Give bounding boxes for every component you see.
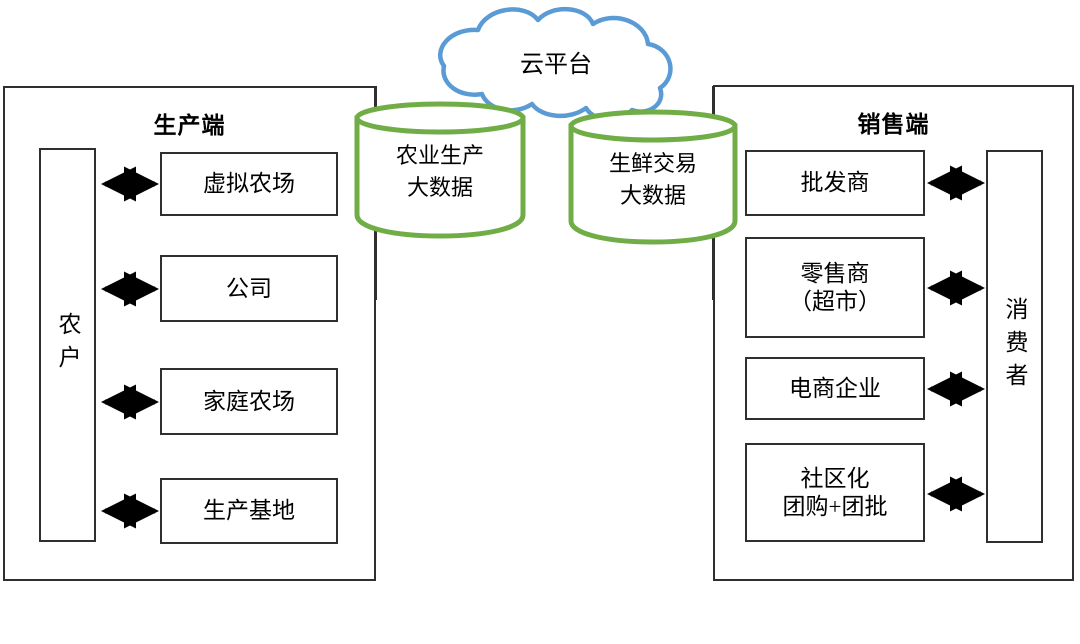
node-wholesaler-label: 批发商: [801, 169, 870, 196]
production-panel-title: 生产端: [3, 106, 376, 140]
node-family-farm[interactable]: 家庭农场: [160, 368, 338, 435]
node-production-base-label: 生产基地: [203, 497, 295, 524]
node-ecommerce-label: 电商企业: [789, 375, 881, 402]
production-actor-label: 农户: [56, 312, 79, 378]
node-community-group-label: 社区化 团购+团批: [783, 465, 888, 519]
node-wholesaler[interactable]: 批发商: [745, 150, 925, 216]
node-retailer[interactable]: 零售商 （超市）: [745, 237, 925, 338]
node-family-farm-label: 家庭农场: [203, 388, 295, 415]
node-ecommerce[interactable]: 电商企业: [745, 357, 925, 420]
node-production-base[interactable]: 生产基地: [160, 478, 338, 544]
datastore-fresh-label: 生鲜交易 大数据: [571, 148, 735, 212]
node-virtual-farm[interactable]: 虚拟农场: [160, 152, 338, 216]
datastore-agri-label: 农业生产 大数据: [357, 140, 523, 204]
sales-panel-title: 销售端: [713, 105, 1074, 139]
sales-actor-consumer[interactable]: 消费者: [986, 150, 1043, 543]
node-company-label: 公司: [226, 275, 272, 302]
cloud-label: 云平台: [440, 44, 672, 79]
diagram-canvas: 生产端 农户 虚拟农场 公司 家庭农场 生产基地 销售端 批发商 零售商 （超市…: [0, 0, 1080, 644]
sales-actor-label: 消费者: [1003, 297, 1026, 396]
node-company[interactable]: 公司: [160, 255, 338, 322]
production-actor-farmer[interactable]: 农户: [39, 148, 96, 542]
node-retailer-label: 零售商 （超市）: [789, 260, 881, 314]
node-virtual-farm-label: 虚拟农场: [203, 170, 295, 197]
node-community-group[interactable]: 社区化 团购+团批: [745, 443, 925, 542]
